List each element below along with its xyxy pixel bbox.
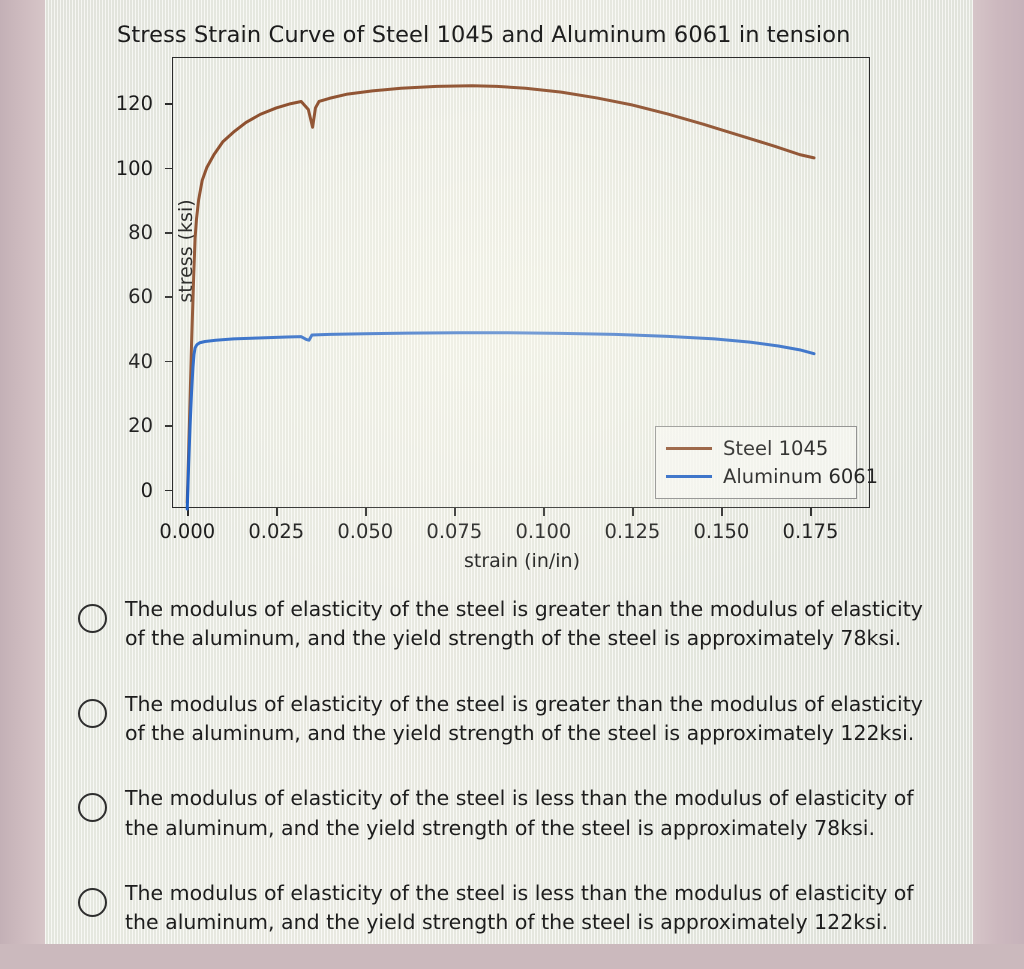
legend-label: Steel 1045	[723, 437, 828, 460]
y-tick-label: 100	[73, 157, 167, 180]
radio-button-3[interactable]	[78, 793, 107, 822]
legend-swatch-icon	[666, 447, 712, 450]
y-tick-label: 0	[73, 479, 167, 502]
radio-button-4[interactable]	[78, 888, 107, 917]
y-tick-label: 80	[73, 221, 167, 244]
radio-button-1[interactable]	[78, 604, 107, 633]
question-sheet: Stress Strain Curve of Steel 1045 and Al…	[45, 0, 973, 944]
legend-item: Aluminum 6061	[666, 462, 846, 490]
x-axis-label: strain (in/in)	[173, 550, 871, 572]
stress-strain-chart: Stress Strain Curve of Steel 1045 and Al…	[45, 0, 973, 590]
page-right-edge	[973, 0, 1024, 944]
y-tick-label: 40	[73, 350, 167, 373]
y-tick-label: 20	[73, 414, 167, 437]
chart-title: Stress Strain Curve of Steel 1045 and Al…	[117, 22, 947, 48]
answer-option-4[interactable]: The modulus of elasticity of the steel i…	[45, 874, 973, 938]
y-tick-label: 120	[73, 92, 167, 115]
answer-option-text: The modulus of elasticity of the steel i…	[125, 590, 925, 654]
legend-swatch-icon	[666, 475, 712, 478]
legend-item: Steel 1045	[666, 434, 846, 462]
plot-area: stress (ksi) 020406080100120 0.0000.0250…	[172, 57, 870, 508]
answer-option-text: The modulus of elasticity of the steel i…	[125, 874, 925, 938]
x-tick-label: 0.175	[755, 520, 865, 543]
radio-button-2[interactable]	[78, 699, 107, 728]
legend-label: Aluminum 6061	[723, 465, 878, 488]
answer-option-2[interactable]: The modulus of elasticity of the steel i…	[45, 685, 973, 749]
page-left-edge	[0, 0, 45, 944]
y-tick-label: 60	[73, 285, 167, 308]
answer-options-list: The modulus of elasticity of the steel i…	[45, 590, 973, 969]
answer-option-3[interactable]: The modulus of elasticity of the steel i…	[45, 779, 973, 843]
answer-option-text: The modulus of elasticity of the steel i…	[125, 685, 925, 749]
answer-option-1[interactable]: The modulus of elasticity of the steel i…	[45, 590, 973, 654]
answer-option-text: The modulus of elasticity of the steel i…	[125, 779, 925, 843]
chart-legend: Steel 1045Aluminum 6061	[655, 426, 857, 499]
